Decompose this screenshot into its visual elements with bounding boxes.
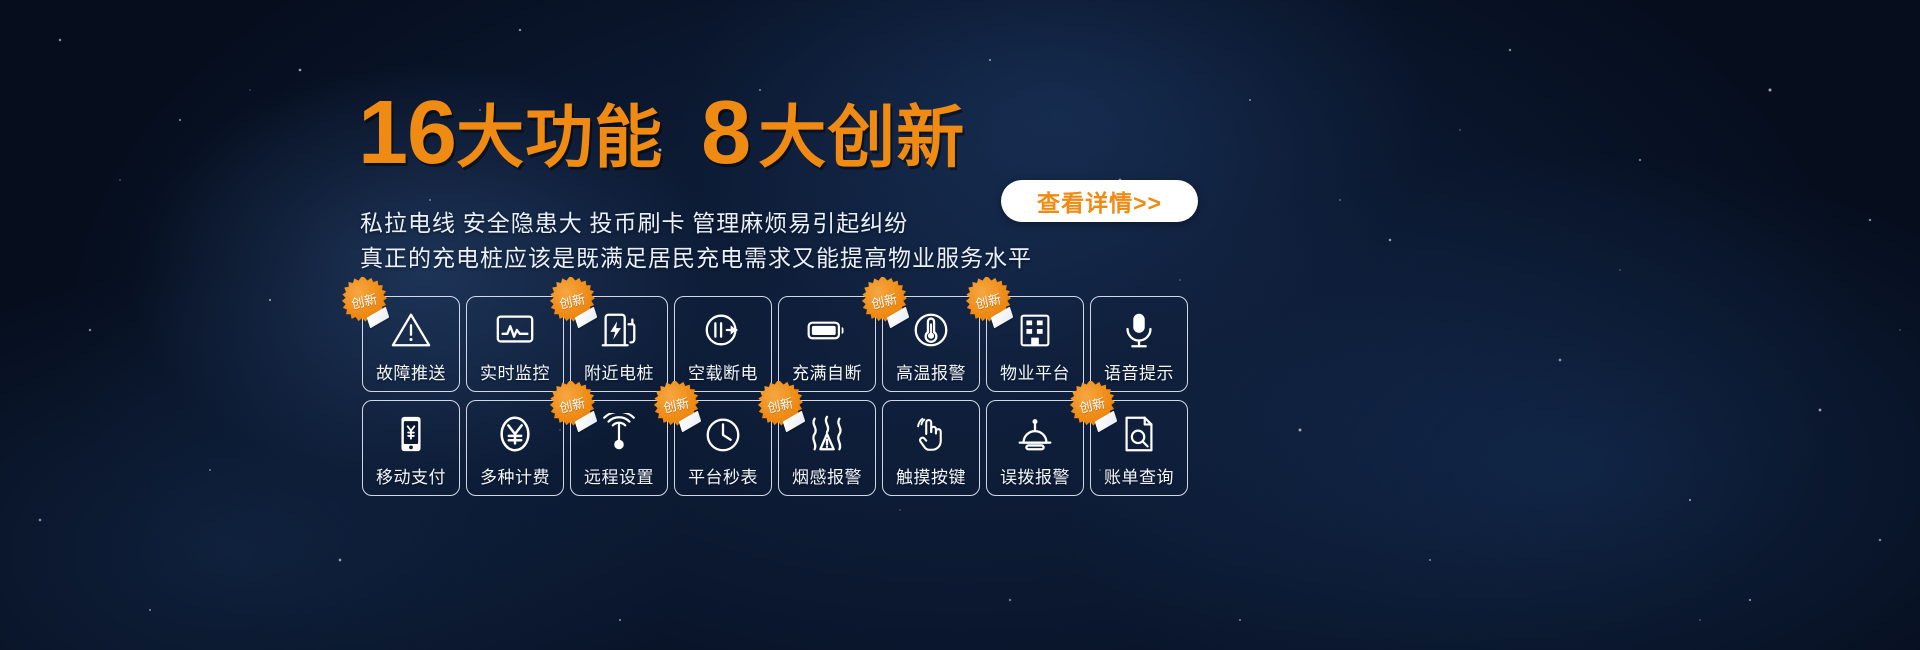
clock-icon [700,411,746,457]
sub-copy-line-1: 私拉电线 安全隐患大 投币刷卡 管理麻烦易引起纠纷 [360,206,1032,241]
headline-text-innovations: 大创新 [758,104,965,175]
plug-disconnect-icon [700,307,746,353]
battery-full-icon [804,307,850,353]
yuan-coin-icon [492,411,538,457]
headline-number-functions: 16 [358,92,456,175]
feature-row-2: 移动支付 多种计费 创新 [362,400,1188,496]
innovation-badge: 创新 [549,277,595,323]
building-icon [1012,307,1058,353]
headline-number-innovations: 8 [701,92,750,175]
innovation-badge: 创新 [861,277,907,323]
feature-label: 烟感报警 [792,463,862,488]
feature-card-smoke-alarm[interactable]: 创新 烟感报警 [778,400,876,496]
antenna-signal-icon [596,411,642,457]
feature-card-bill-query[interactable]: 创新 账单查询 [1090,400,1188,496]
touch-hand-icon [908,411,954,457]
feature-row-1: 创新 故障推送 [362,296,1188,392]
smoke-alarm-icon [804,411,850,457]
feature-card-fault-push[interactable]: 创新 故障推送 [362,296,460,392]
mobile-payment-icon [388,411,434,457]
monitor-waveform-icon [492,307,538,353]
feature-card-property-platform[interactable]: 创新 物业平台 [986,296,1084,392]
innovation-badge: 创新 [341,277,387,323]
innovation-badge: 创新 [757,381,803,427]
feature-label: 移动支付 [376,463,446,488]
feature-label: 触摸按键 [896,463,966,488]
sub-copy: 私拉电线 安全隐患大 投币刷卡 管理麻烦易引起纠纷 真正的充电桩应该是既满足居民… [360,206,1032,276]
feature-label: 故障推送 [376,359,446,384]
innovation-badge: 创新 [965,277,1011,323]
headline: 16 大功能 8 大创新 [358,92,965,175]
feature-label: 多种计费 [480,463,550,488]
innovation-badge: 创新 [653,381,699,427]
feature-label: 实时监控 [480,359,550,384]
bill-search-icon [1116,411,1162,457]
view-details-label: 查看详情>> [1037,184,1162,218]
alarm-bell-icon [1012,411,1058,457]
feature-label: 物业平台 [1000,359,1070,384]
feature-grid: 创新 故障推送 [362,296,1188,496]
feature-card-mobile-payment[interactable]: 移动支付 [362,400,460,496]
thermometer-icon [908,307,954,353]
headline-text-functions: 大功能 [456,104,663,175]
warning-triangle-icon [388,307,434,353]
feature-label: 远程设置 [584,463,654,488]
innovation-badge: 创新 [1069,381,1115,427]
innovation-badge: 创新 [549,381,595,427]
feature-label: 误拨报警 [1000,463,1070,488]
microphone-icon [1116,307,1162,353]
feature-label: 平台秒表 [688,463,758,488]
charging-pile-icon [596,307,642,353]
feature-label: 高温报警 [896,359,966,384]
feature-card-touch-key[interactable]: 触摸按键 [882,400,980,496]
sub-copy-line-2: 真正的充电桩应该是既满足居民充电需求又能提高物业服务水平 [360,241,1032,276]
feature-label: 账单查询 [1104,463,1174,488]
promo-banner: 16 大功能 8 大创新 查看详情>> 私拉电线 安全隐患大 投币刷卡 管理麻烦… [0,0,1920,650]
